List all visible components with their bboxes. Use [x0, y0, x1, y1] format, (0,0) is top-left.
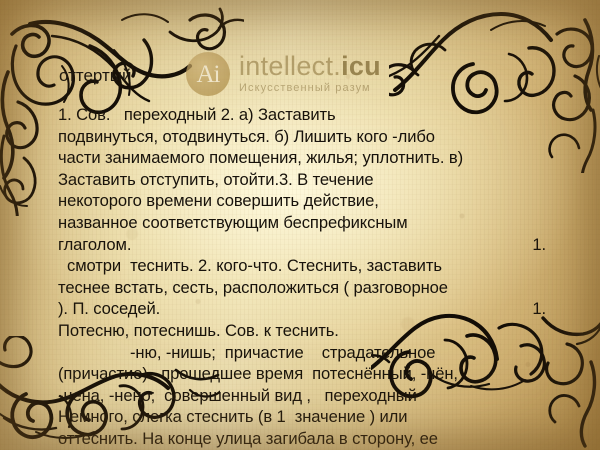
body-line: 1. Сов. переходный 2. а) Заставить	[58, 104, 568, 126]
watermark-subtitle: Искусственный разум	[239, 81, 381, 95]
watermark-title-main: intellect.	[239, 51, 341, 81]
body-line: -ню, -нишь; причастие страдательное	[58, 342, 568, 364]
body-line-sosedey: ). П. соседей. 1.	[58, 298, 568, 320]
body-line: (причастие) прошедшее время потеснённый,…	[58, 363, 568, 385]
body-line: -нена, -нено; совершенный вид , переходн…	[58, 385, 568, 407]
body-line-glagolom: глаголом. 1.	[58, 234, 568, 256]
body-line: Заставить отступить, отойти.3. В течение	[58, 169, 568, 191]
slide-canvas: Ai intellect.icu Искусственный разум отт…	[0, 0, 600, 450]
watermark-title: intellect.icu	[239, 53, 381, 80]
body-line: смотри теснить. 2. кого-что. Стеснить, з…	[58, 255, 568, 277]
watermark-text-block: intellect.icu Искусственный разум	[239, 53, 381, 95]
body-line-sosedey-number: 1.	[532, 298, 568, 320]
intellect-icu-watermark: Ai intellect.icu Искусственный разум	[186, 52, 381, 96]
page-title: оттертый	[59, 66, 132, 86]
body-line: Потесню, потеснишь. Сов. к теснить.	[58, 320, 568, 342]
body-line: подвинуться, отодвинуться. б) Лишить ког…	[58, 126, 568, 148]
body-line: некоторого времени совершить действие,	[58, 190, 568, 212]
body-line: теснее встать, сесть, расположиться ( ра…	[58, 277, 568, 299]
body-line: оттеснить. На конце улица загибала в сто…	[58, 428, 568, 450]
dictionary-body-text: 1. Сов. переходный 2. а) Заставить подви…	[58, 104, 568, 450]
watermark-title-accent: icu	[341, 51, 381, 81]
ai-circle-logo-icon: Ai	[186, 52, 230, 96]
body-line-sosedey-text: ). П. соседей.	[58, 298, 160, 320]
body-line: Немного, слегка стеснить (в 1 значение )…	[58, 406, 568, 428]
body-line: части занимаемого помещения, жилья; упло…	[58, 147, 568, 169]
body-line-glagolom-text: глаголом.	[58, 234, 131, 256]
body-line-glagolom-number: 1.	[532, 234, 568, 256]
body-line: названное соответствующим беспрефиксным	[58, 212, 568, 234]
